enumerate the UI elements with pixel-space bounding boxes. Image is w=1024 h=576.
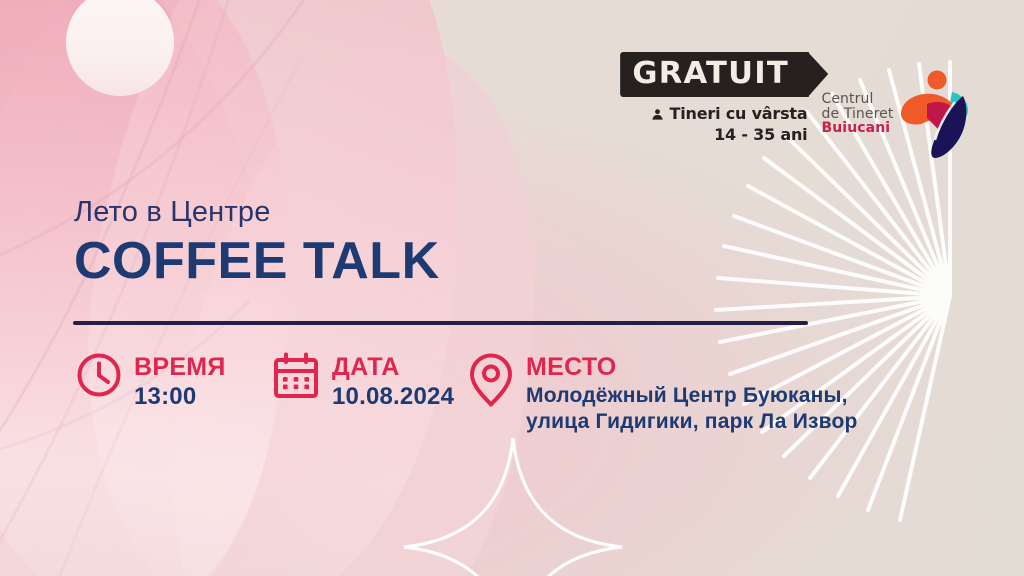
- organization-logo: Centrul de Tineret Buiucani: [821, 68, 971, 160]
- divider: [73, 321, 808, 325]
- free-badge: GRATUIT Tineri cu vârsta 14 - 35 ani: [622, 52, 807, 144]
- audience-text-1: Tineri cu vârsta: [670, 105, 808, 123]
- event-poster: GRATUIT Tineri cu vârsta 14 - 35 ani Cen…: [0, 0, 1024, 576]
- event-details-row: ВРЕМЯ 13:00 ДАТА: [76, 352, 858, 435]
- detail-date-label: ДАТА: [332, 354, 454, 381]
- gratuit-label: GRATUIT: [620, 52, 809, 97]
- detail-place-value: Молодёжный Центр Буюканы, улица Гидигики…: [526, 383, 858, 435]
- logo-wordmark: Centrul de Tineret Buiucani: [821, 92, 893, 136]
- detail-place-label: МЕСТО: [526, 354, 858, 381]
- audience-text-2: 14 - 35 ani: [714, 125, 807, 144]
- audience-line-1: Tineri cu vârsta: [650, 105, 808, 123]
- logo-line-3: Buiucani: [821, 121, 893, 136]
- detail-place: МЕСТО Молодёжный Центр Буюканы, улица Ги…: [468, 352, 858, 435]
- calendar-icon: [272, 352, 320, 400]
- detail-time-value: 13:00: [134, 383, 226, 411]
- detail-time-label: ВРЕМЯ: [134, 354, 226, 381]
- title-block: Лето в Центре COFFEE TALK: [74, 198, 440, 287]
- detail-time: ВРЕМЯ 13:00: [76, 352, 272, 411]
- logo-line-2: de Tineret: [821, 107, 893, 122]
- detail-date: ДАТА 10.08.2024: [272, 352, 468, 411]
- logo-line-1: Centrul: [821, 92, 893, 107]
- eyebrow-text: Лето в Центре: [74, 198, 440, 227]
- centrul-de-tineret-logo-icon: [897, 68, 971, 160]
- four-point-star-decoration: [398, 432, 628, 576]
- person-icon: [650, 107, 665, 122]
- page-title: COFFEE TALK: [74, 235, 440, 287]
- clock-icon: [76, 352, 122, 398]
- detail-date-value: 10.08.2024: [332, 383, 454, 411]
- header-badges: GRATUIT Tineri cu vârsta 14 - 35 ani Cen…: [622, 52, 971, 160]
- location-pin-icon: [468, 352, 514, 408]
